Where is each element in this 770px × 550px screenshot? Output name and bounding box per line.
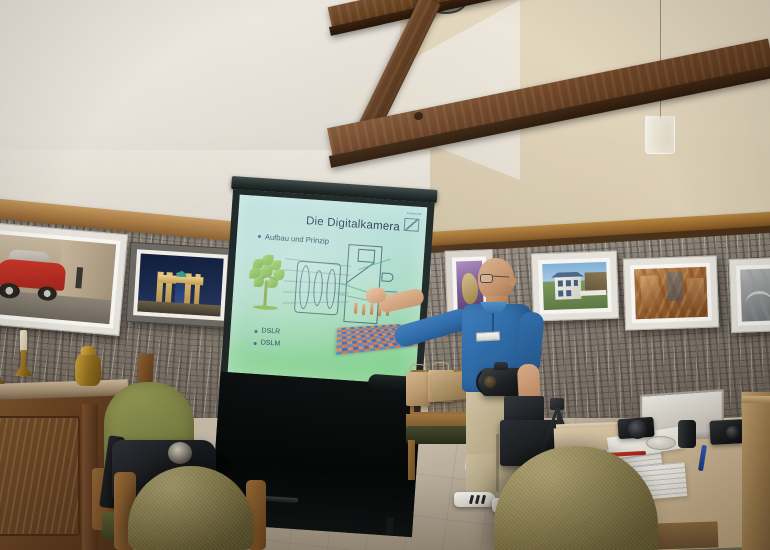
pendant-glass-shade [645, 116, 675, 154]
name-badge [476, 331, 500, 341]
artwork-mono-curve [740, 268, 770, 321]
slide-title: Die Digitalkamera [288, 214, 419, 235]
building-mass-left [640, 275, 660, 309]
dresser-door-panel[interactable] [0, 416, 80, 536]
lens-on-bag [168, 442, 192, 464]
presenter-shoe-left [454, 492, 496, 507]
dslr-camera-lens-on-table [628, 420, 647, 439]
trouser-crease [496, 434, 499, 492]
kraft-paper-bag[interactable] [406, 372, 430, 406]
photo-mat [0, 230, 121, 329]
curved-line [744, 290, 770, 317]
candle [20, 330, 27, 352]
microlens [362, 304, 366, 315]
brass-vase [75, 352, 101, 386]
cabinet-top-rail [742, 396, 770, 403]
photo-scene: Fotofreunde Die Digitalkamera Aufbau und… [0, 0, 770, 550]
gate-central-passage [174, 282, 185, 303]
slide-bullet-dslr: DSLR [261, 327, 280, 335]
projected-slide: Fotofreunde Die Digitalkamera Aufbau und… [228, 195, 428, 385]
shoe-stripe [475, 495, 480, 504]
quadriga-statue [176, 270, 187, 277]
shoe-stripe [469, 495, 474, 504]
diagram-tree-subject [247, 253, 287, 313]
gate-plaza [137, 300, 221, 316]
villa-window [566, 281, 571, 287]
framed-photo-architecture-study [623, 255, 719, 330]
photo-mat [736, 264, 770, 325]
wooden-cabinet-right [742, 392, 770, 550]
villa-window [566, 290, 571, 296]
artwork-architecture-study [634, 267, 708, 319]
photo-mat [630, 263, 712, 324]
presenter-ear [508, 276, 516, 287]
framed-photo-brandenburg-gate [126, 242, 236, 328]
chair-leg [408, 440, 415, 480]
slide-logo-caption: Fotofreunde [400, 212, 422, 216]
microlens [370, 304, 374, 315]
diagram-viewfinder-eyecup [381, 272, 394, 282]
camera-lens-standing[interactable] [678, 420, 696, 448]
framed-photo-mono-curve [729, 257, 770, 333]
building-mass-center [666, 272, 683, 302]
dslr-prism-hump [494, 362, 508, 370]
projection-screen-foot [386, 517, 394, 533]
lens-filter-ring[interactable] [646, 436, 676, 450]
slide-bullet-dslm: DSLM [260, 339, 280, 347]
microlens [354, 303, 358, 314]
slide-bullet-aufbau: Aufbau und Prinzip [265, 232, 330, 245]
tree-ground [253, 305, 278, 311]
framed-photo-red-car [0, 222, 128, 336]
presenter-leg-left [466, 454, 496, 496]
shoe-stripe [481, 495, 486, 504]
diagram-pentaprism [357, 249, 375, 263]
artwork-brandenburg-gate [137, 254, 223, 317]
projection-screen[interactable]: Fotofreunde Die Digitalkamera Aufbau und… [208, 176, 437, 537]
compact-camera-lens [726, 426, 739, 439]
artwork-red-vintage-car [0, 234, 116, 324]
photo-mat [133, 249, 228, 320]
garden-wall [580, 290, 606, 296]
building-mass-right [686, 278, 704, 310]
dslr-front-glass [484, 376, 496, 388]
villa-window [574, 280, 579, 286]
